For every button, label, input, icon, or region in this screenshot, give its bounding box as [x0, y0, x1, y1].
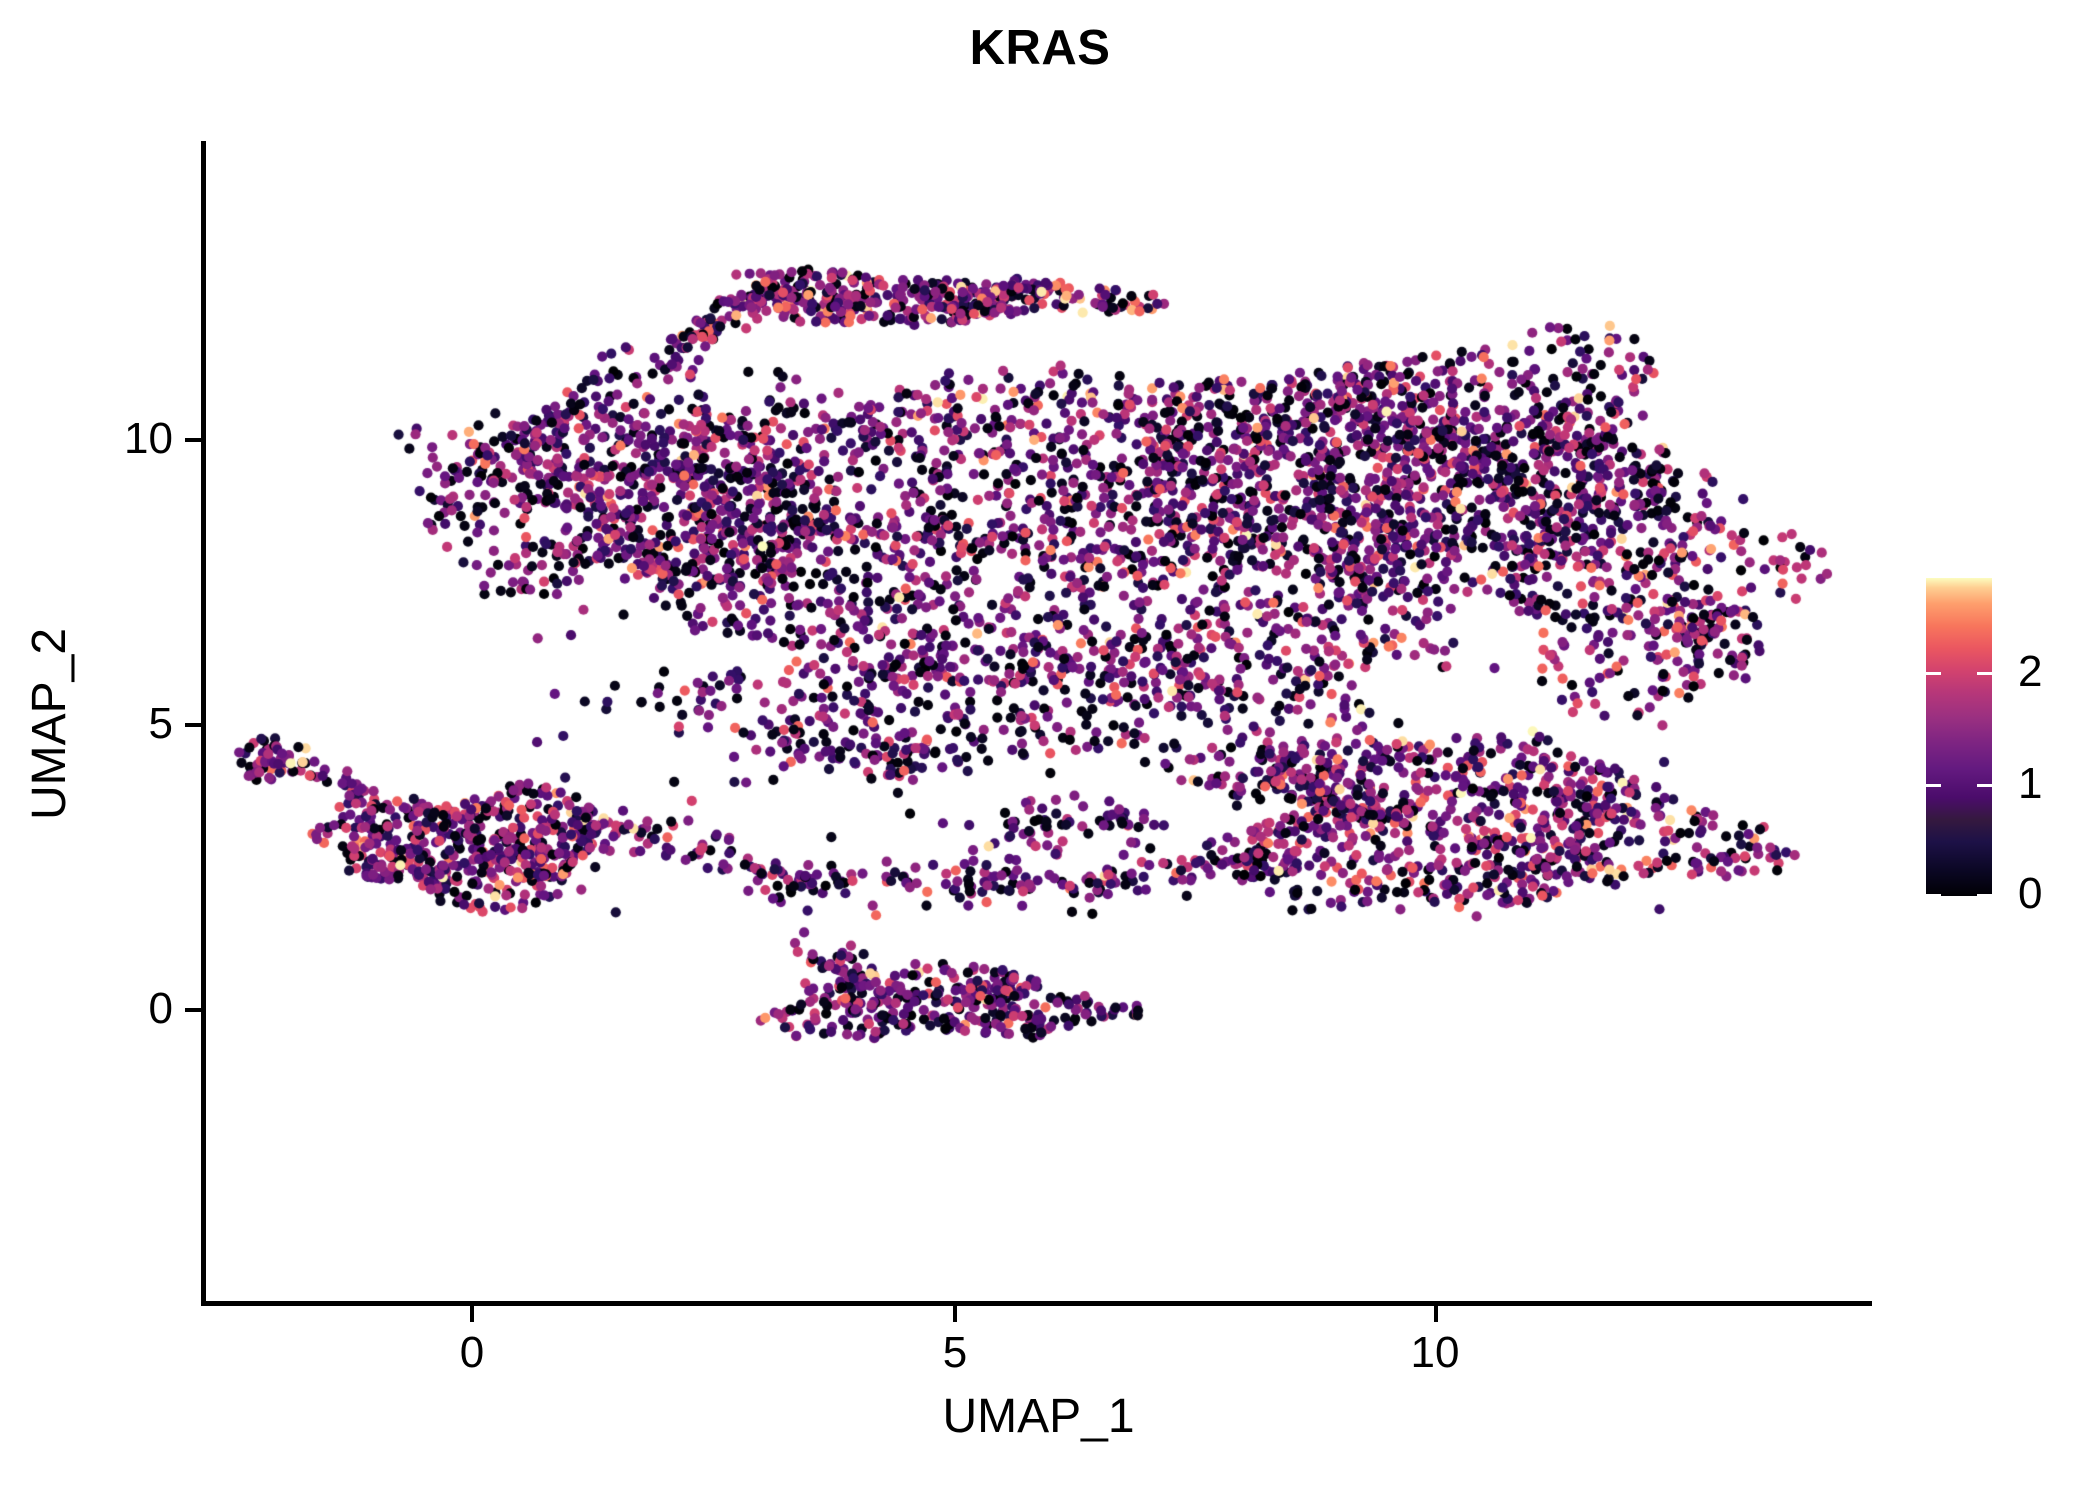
colorbar-gradient	[1926, 578, 1992, 896]
x-axis-ticklabel-2: 10	[1365, 1329, 1505, 1377]
colorbar-label-1: 1	[2018, 762, 2042, 806]
plot-panel	[205, 141, 1872, 1303]
x-axis-line	[201, 1301, 1872, 1306]
x-axis-label: UMAP_1	[205, 1393, 1872, 1441]
y-axis-tick-0	[185, 1008, 201, 1012]
colorbar-tick-1-right	[1977, 784, 1992, 787]
y-axis-tick-2	[185, 438, 201, 442]
x-axis-ticklabel-0: 0	[402, 1329, 542, 1377]
colorbar-tick-1-left	[1926, 784, 1941, 787]
colorbar-label-2: 2	[2018, 650, 2042, 694]
colorbar-tick-0-right	[1977, 894, 1992, 897]
scatter-plot-canvas	[205, 141, 1872, 1303]
x-axis-tick-1	[953, 1306, 957, 1322]
colorbar-tick-0-left	[1926, 894, 1941, 897]
page-title: KRAS	[0, 24, 2080, 73]
plot-root: KRAS 0 5 10 10 5 0 UMAP_1 UMAP_2 2 1 0	[0, 0, 2100, 1500]
colorbar-tick-2-left	[1926, 672, 1941, 675]
x-axis-tick-0	[470, 1306, 474, 1322]
y-axis-label: UMAP_2	[26, 144, 74, 1304]
colorbar-tick-2-right	[1977, 672, 1992, 675]
y-axis-tick-1	[185, 723, 201, 727]
colorbar-label-0: 0	[2018, 872, 2042, 916]
x-axis-tick-2	[1434, 1306, 1438, 1322]
legend-colorbar: 2 1 0	[1926, 578, 2086, 908]
y-axis-line	[201, 141, 206, 1306]
x-axis-ticklabel-1: 5	[885, 1329, 1025, 1377]
